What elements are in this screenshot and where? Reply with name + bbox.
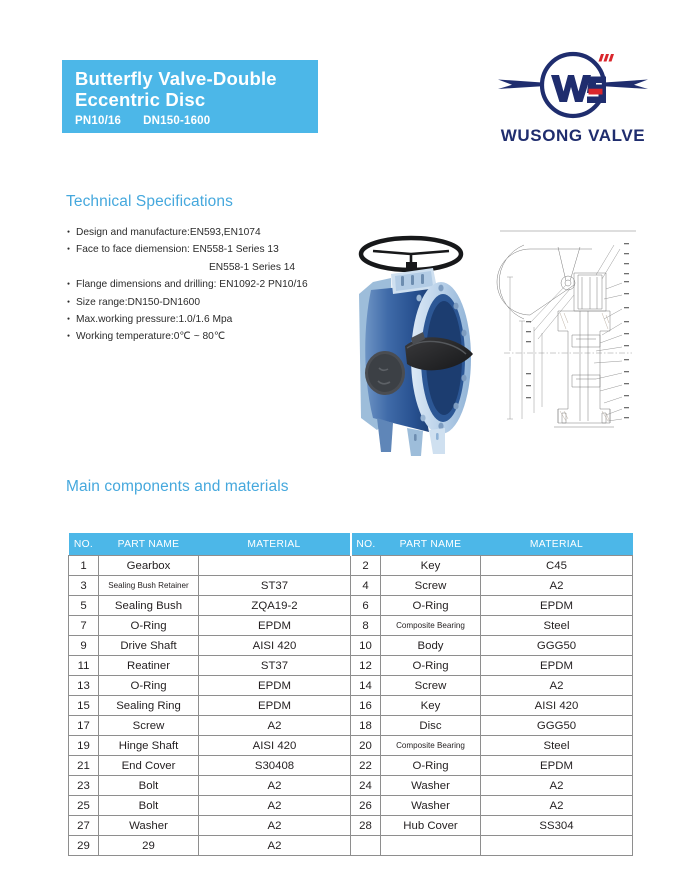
cell-no-right: 14 [351, 676, 381, 696]
cell-material-left: ST37 [199, 656, 351, 676]
table-row: 3Sealing Bush RetainerST374ScrewA2 [69, 576, 633, 596]
valve-cross-section-drawing [496, 223, 640, 437]
cell-material-right: A2 [481, 576, 633, 596]
cell-part-right: O-Ring [381, 756, 481, 776]
cell-part-right: Composite Bearing [381, 736, 481, 756]
spec-item-text: Max.working pressure:1.0/1.6 Mpa [76, 314, 232, 325]
cell-no-right: 10 [351, 636, 381, 656]
table-header-row: NO. PART NAME MATERIAL NO. PART NAME MAT… [69, 533, 633, 556]
size-designation: DN150-1600 [143, 115, 210, 127]
cell-no-right: 16 [351, 696, 381, 716]
cell-material-right [481, 836, 633, 856]
cell-no-left: 25 [69, 796, 99, 816]
cell-no-right: 24 [351, 776, 381, 796]
cell-material-right: EPDM [481, 756, 633, 776]
cell-material-right: A2 [481, 796, 633, 816]
cell-no-right: 26 [351, 796, 381, 816]
cell-material-left: AISI 420 [199, 736, 351, 756]
cell-no-right: 20 [351, 736, 381, 756]
cell-part-left: Sealing Bush Retainer [99, 576, 199, 596]
cell-part-right: Key [381, 696, 481, 716]
cell-material-left: A2 [199, 836, 351, 856]
product-title-band: Butterfly Valve-Double Eccentric Disc PN… [62, 60, 318, 133]
cell-part-left: Gearbox [99, 556, 199, 576]
cell-no-right: 12 [351, 656, 381, 676]
cell-no-left: 5 [69, 596, 99, 616]
cell-part-left: 29 [99, 836, 199, 856]
column-header-part-right: PART NAME [381, 533, 481, 556]
butterfly-valve-photo [333, 218, 493, 458]
cell-no-left: 3 [69, 576, 99, 596]
cell-part-left: Screw [99, 716, 199, 736]
page-header: Butterfly Valve-Double Eccentric Disc PN… [0, 0, 700, 175]
page-title: Butterfly Valve-Double Eccentric Disc [75, 68, 318, 110]
cell-material-right: SS304 [481, 816, 633, 836]
cell-part-right: O-Ring [381, 596, 481, 616]
cell-material-left: EPDM [199, 696, 351, 716]
cell-no-right: 6 [351, 596, 381, 616]
cell-part-right: Disc [381, 716, 481, 736]
table-row: 27WasherA228Hub CoverSS304 [69, 816, 633, 836]
cell-material-right: GGG50 [481, 716, 633, 736]
spec-item-text: Size range:DN150-DN1600 [76, 297, 200, 308]
spec-item-text: Working temperature:0℃ ~ 80℃ [76, 331, 225, 342]
spec-item: ●Working temperature:0℃ ~ 80℃ [67, 328, 357, 345]
cell-no-left: 23 [69, 776, 99, 796]
spec-item-text: Face to face diemension: EN558-1 Series … [76, 244, 279, 255]
cell-part-right: Body [381, 636, 481, 656]
cell-part-right: Composite Bearing [381, 616, 481, 636]
spec-item: ●Flange dimensions and drilling: EN1092-… [67, 276, 357, 293]
cell-material-right: A2 [481, 776, 633, 796]
cell-material-left: ZQA19-2 [199, 596, 351, 616]
cell-no-left: 13 [69, 676, 99, 696]
technical-specifications-heading: Technical Specifications [66, 193, 233, 211]
cell-no-left: 29 [69, 836, 99, 856]
parts-materials-table: NO. PART NAME MATERIAL NO. PART NAME MAT… [68, 533, 633, 856]
cell-no-left: 17 [69, 716, 99, 736]
column-header-material-left: MATERIAL [199, 533, 351, 556]
company-name: WUSONG VALVE [488, 126, 658, 146]
cell-part-left: Washer [99, 816, 199, 836]
cell-no-right: 28 [351, 816, 381, 836]
bullet-icon: ● [67, 328, 70, 345]
cell-material-right: Steel [481, 616, 633, 636]
column-header-no-right: NO. [351, 533, 381, 556]
spec-item: ●Size range:DN150-DN1600 [67, 294, 357, 311]
table-row: 9Drive ShaftAISI 42010BodyGGG50 [69, 636, 633, 656]
cell-material-right: EPDM [481, 656, 633, 676]
cell-part-right: O-Ring [381, 656, 481, 676]
spec-item: ●Face to face diemension: EN558-1 Series… [67, 241, 357, 258]
cell-material-left: A2 [199, 796, 351, 816]
company-logo: WUSONG VALVE [488, 46, 658, 158]
cell-part-right: Washer [381, 796, 481, 816]
cell-no-left: 1 [69, 556, 99, 576]
table-row: 2929A2 [69, 836, 633, 856]
table-row: 11ReatinerST3712O-RingEPDM [69, 656, 633, 676]
table-row: 23BoltA224WasherA2 [69, 776, 633, 796]
cell-no-left: 19 [69, 736, 99, 756]
cell-part-right: Screw [381, 576, 481, 596]
cell-part-right: Washer [381, 776, 481, 796]
table-row: 15Sealing RingEPDM16KeyAISI 420 [69, 696, 633, 716]
cell-no-right: 18 [351, 716, 381, 736]
table-row: 5Sealing BushZQA19-26O-RingEPDM [69, 596, 633, 616]
table-row: 1Gearbox2KeyC45 [69, 556, 633, 576]
cell-material-left: A2 [199, 776, 351, 796]
cell-no-left: 11 [69, 656, 99, 676]
bullet-icon: ● [67, 276, 70, 293]
cell-material-left: AISI 420 [199, 636, 351, 656]
table-row: 13O-RingEPDM14ScrewA2 [69, 676, 633, 696]
cell-no-right: 4 [351, 576, 381, 596]
bullet-icon: ● [67, 294, 70, 311]
spec-item-text: Design and manufacture:EN593,EN1074 [76, 227, 261, 238]
cell-part-right: Hub Cover [381, 816, 481, 836]
cell-material-right: A2 [481, 676, 633, 696]
cell-no-right: 8 [351, 616, 381, 636]
cell-part-left: O-Ring [99, 616, 199, 636]
column-header-no-left: NO. [69, 533, 99, 556]
bullet-icon: ● [67, 241, 70, 258]
cell-part-right: Key [381, 556, 481, 576]
cell-material-left: ST37 [199, 576, 351, 596]
cell-material-right: GGG50 [481, 636, 633, 656]
cell-part-left: End Cover [99, 756, 199, 776]
spec-item-continuation: EN558-1 Series 14 [67, 259, 357, 276]
pressure-rating: PN10/16 [75, 115, 121, 127]
column-header-part-left: PART NAME [99, 533, 199, 556]
table-row: 17ScrewA218DiscGGG50 [69, 716, 633, 736]
cell-part-left: Reatiner [99, 656, 199, 676]
cell-part-right [381, 836, 481, 856]
main-components-heading: Main components and materials [66, 478, 289, 496]
cell-material-right: Steel [481, 736, 633, 756]
cell-part-left: Drive Shaft [99, 636, 199, 656]
spec-item: ●Design and manufacture:EN593,EN1074 [67, 224, 357, 241]
cell-part-left: Sealing Ring [99, 696, 199, 716]
table-row: 19Hinge ShaftAISI 42020Composite Bearing… [69, 736, 633, 756]
spec-item: ●Max.working pressure:1.0/1.6 Mpa [67, 311, 357, 328]
cell-material-left [199, 556, 351, 576]
cell-no-right: 22 [351, 756, 381, 776]
cell-material-left: EPDM [199, 616, 351, 636]
cell-material-left: A2 [199, 716, 351, 736]
cell-no-left: 27 [69, 816, 99, 836]
wusong-logo-icon [488, 46, 658, 124]
table-row: 7O-RingEPDM8Composite BearingSteel [69, 616, 633, 636]
cell-part-left: Bolt [99, 796, 199, 816]
cell-material-left: EPDM [199, 676, 351, 696]
column-header-material-right: MATERIAL [481, 533, 633, 556]
cell-no-left: 7 [69, 616, 99, 636]
bullet-icon: ● [67, 311, 70, 328]
cell-material-right: C45 [481, 556, 633, 576]
cell-material-right: EPDM [481, 596, 633, 616]
cell-no-left: 9 [69, 636, 99, 656]
cell-no-left: 15 [69, 696, 99, 716]
cell-no-right [351, 836, 381, 856]
bullet-icon: ● [67, 224, 70, 241]
table-row: 21End CoverS3040822O-RingEPDM [69, 756, 633, 776]
table-row: 25BoltA226WasherA2 [69, 796, 633, 816]
cell-part-left: O-Ring [99, 676, 199, 696]
cell-part-left: Hinge Shaft [99, 736, 199, 756]
cell-part-left: Sealing Bush [99, 596, 199, 616]
cell-material-left: A2 [199, 816, 351, 836]
cell-no-right: 2 [351, 556, 381, 576]
technical-specifications-list: ●Design and manufacture:EN593,EN1074●Fac… [67, 224, 357, 346]
cell-no-left: 21 [69, 756, 99, 776]
spec-item-text: Flange dimensions and drilling: EN1092-2… [76, 279, 308, 290]
cell-part-right: Screw [381, 676, 481, 696]
cell-part-left: Bolt [99, 776, 199, 796]
cell-material-right: AISI 420 [481, 696, 633, 716]
title-subtitle-row: PN10/16DN150-1600 [75, 115, 318, 127]
cell-material-left: S30408 [199, 756, 351, 776]
